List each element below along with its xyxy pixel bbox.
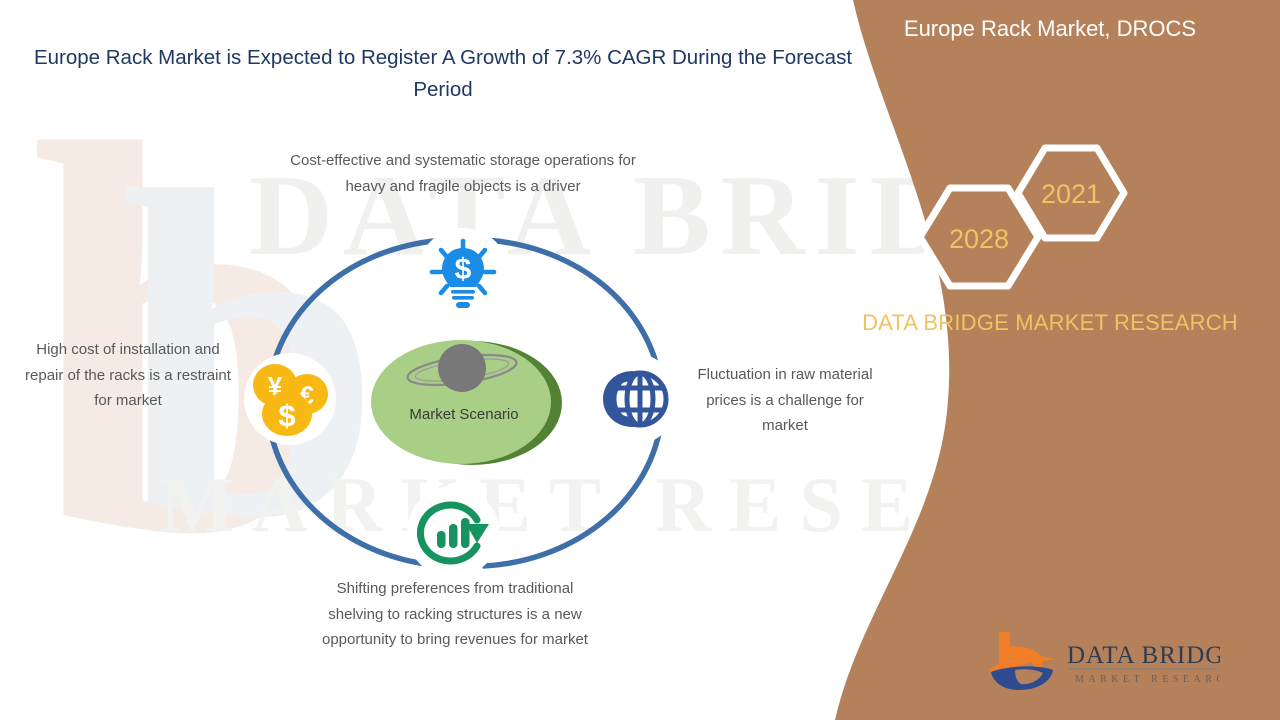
data-bridge-logo: DATA BRIDGE MARKET RESEARCH (985, 630, 1220, 692)
hexagon-group: 2021 2028 (890, 140, 1220, 295)
node-icon-bottom[interactable] (407, 486, 499, 578)
globe-phone-icon (593, 362, 673, 436)
panel-title: Europe Rack Market, DROCS (820, 14, 1280, 44)
svg-text:2028: 2028 (949, 224, 1009, 254)
coins-currency-icon: ¥ € $ (249, 361, 331, 437)
logo-subtitle: MARKET RESEARCH (1075, 674, 1220, 685)
node-icon-left[interactable]: ¥ € $ (244, 353, 336, 445)
node-label-top: Cost-effective and systematic storage op… (280, 148, 646, 199)
logo-title: DATA BRIDGE (1067, 642, 1220, 669)
logo-mark (989, 632, 1057, 690)
node-label-left: High cost of installation and repair of … (18, 337, 238, 414)
node-icon-right[interactable] (587, 353, 679, 445)
lightbulb-dollar-icon: $ (424, 235, 502, 313)
hexagon-2028: 2028 (920, 188, 1038, 286)
svg-text:$: $ (278, 398, 295, 433)
side-panel: Europe Rack Market, DROCS 2021 2028 DATA… (820, 0, 1280, 720)
page-title: Europe Rack Market is Expected to Regist… (10, 42, 876, 106)
svg-text:$: $ (455, 253, 472, 286)
center-label: Market Scenario (379, 402, 549, 427)
node-icon-top[interactable]: $ (417, 228, 509, 320)
infographic-slide: b b DATA BRIDGE MARKET RESEARCH Europe R… (0, 0, 1280, 720)
svg-text:2021: 2021 (1041, 179, 1101, 209)
growth-refresh-icon (413, 496, 493, 568)
node-label-bottom: Shifting preferences from traditional sh… (322, 576, 588, 653)
panel-brand-name: DATA BRIDGE MARKET RESEARCH (850, 308, 1250, 337)
